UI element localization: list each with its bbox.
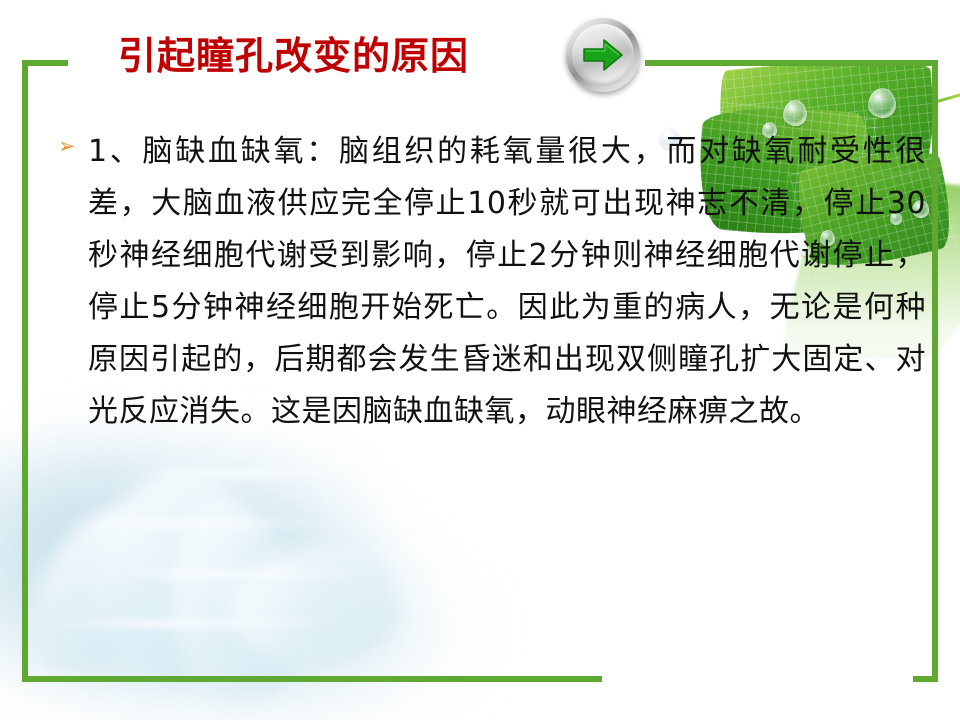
- water-petal: [81, 456, 259, 690]
- water-petal: [224, 536, 406, 673]
- arrowhead-bullet-icon: ➢: [58, 126, 88, 157]
- water-blob: [200, 540, 480, 720]
- water-streak: [150, 470, 380, 477]
- slide-canvas: 引起瞳孔改变的原因 ➢ 1、脑缺血缺氧：脑组织的耗氧量很大，而对缺氧耐受性很差，…: [0, 0, 960, 720]
- next-arrow-button[interactable]: [566, 18, 640, 92]
- content-body: ➢ 1、脑缺血缺氧：脑组织的耗氧量很大，而对缺氧耐受性很差，大脑血液供应完全停止…: [58, 126, 926, 438]
- frame-top-left: [22, 60, 68, 66]
- frame-bottom-right: [913, 676, 938, 682]
- water-streak: [40, 620, 360, 627]
- green-right-arrow-icon: [582, 37, 624, 73]
- water-petal: [12, 489, 189, 696]
- water-streak: [110, 570, 380, 577]
- frame-right-edge: [932, 60, 938, 682]
- frame-bottom-left: [22, 676, 602, 682]
- bullet-list-item: ➢ 1、脑缺血缺氧：脑组织的耗氧量很大，而对缺氧耐受性很差，大脑血液供应完全停止…: [58, 126, 926, 438]
- body-paragraph: 1、脑缺血缺氧：脑组织的耗氧量很大，而对缺氧耐受性很差，大脑血液供应完全停止10…: [88, 126, 926, 438]
- frame-left-edge: [22, 60, 28, 682]
- water-droplet: [783, 100, 807, 126]
- water-blob: [0, 430, 290, 710]
- water-blob: [120, 420, 420, 720]
- leaf-stem: [896, 92, 960, 114]
- water-droplet: [868, 88, 896, 118]
- frame-top-right: [645, 60, 938, 66]
- page-title: 引起瞳孔改变的原因: [118, 36, 469, 78]
- water-streak: [60, 520, 360, 527]
